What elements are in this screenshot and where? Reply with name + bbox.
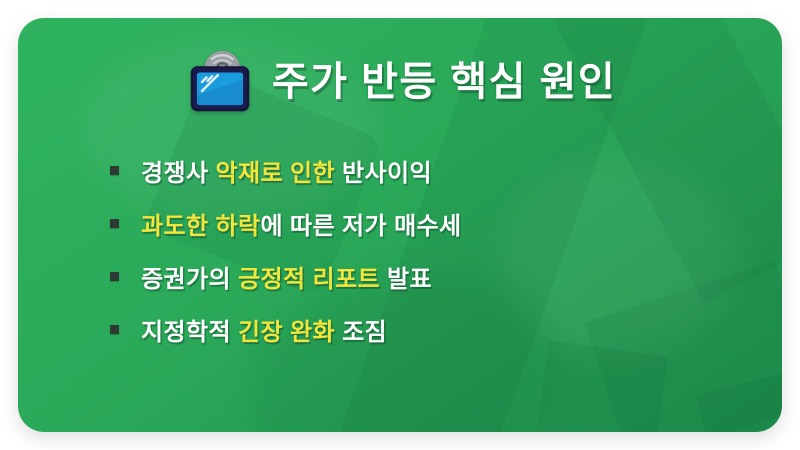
list-item-text: 경쟁사 악재로 인한 반사이익 xyxy=(141,153,432,188)
list-item: 경쟁사 악재로 인한 반사이익 xyxy=(110,144,742,197)
list-item: 증권가의 긍정적 리포트 발표 xyxy=(110,250,742,303)
list-item: 지정학적 긴장 완화 조짐 xyxy=(110,303,742,356)
list-item-text: 증권가의 긍정적 리포트 발표 xyxy=(141,259,432,294)
square-bullet-icon xyxy=(110,325,119,334)
bullet-list: 경쟁사 악재로 인한 반사이익 과도한 하락에 따른 저가 매수세 증권가의 긍… xyxy=(110,144,742,356)
card-content: 주가 반등 핵심 원인 경쟁사 악재로 인한 반사이익 과도한 하락에 따른 저… xyxy=(18,18,782,432)
square-bullet-icon xyxy=(110,272,119,281)
square-bullet-icon xyxy=(110,219,119,228)
slide-canvas: 주가 반등 핵심 원인 경쟁사 악재로 인한 반사이익 과도한 하락에 따른 저… xyxy=(0,0,800,450)
highlight-text: 악재로 인한 xyxy=(216,160,335,187)
highlight-text: 과도한 하락 xyxy=(141,213,260,240)
content-card: 주가 반등 핵심 원인 경쟁사 악재로 인한 반사이익 과도한 하락에 따른 저… xyxy=(18,18,782,432)
computer-disk-icon xyxy=(184,46,256,118)
list-item-text: 과도한 하락에 따른 저가 매수세 xyxy=(141,206,462,241)
header: 주가 반등 핵심 원인 xyxy=(18,46,782,118)
highlight-text: 긍정적 리포트 xyxy=(238,266,380,293)
list-item: 과도한 하락에 따른 저가 매수세 xyxy=(110,197,742,250)
page-title: 주가 반등 핵심 원인 xyxy=(272,60,616,104)
square-bullet-icon xyxy=(110,166,119,175)
list-item-text: 지정학적 긴장 완화 조짐 xyxy=(141,312,387,347)
highlight-text: 긴장 완화 xyxy=(238,319,335,346)
